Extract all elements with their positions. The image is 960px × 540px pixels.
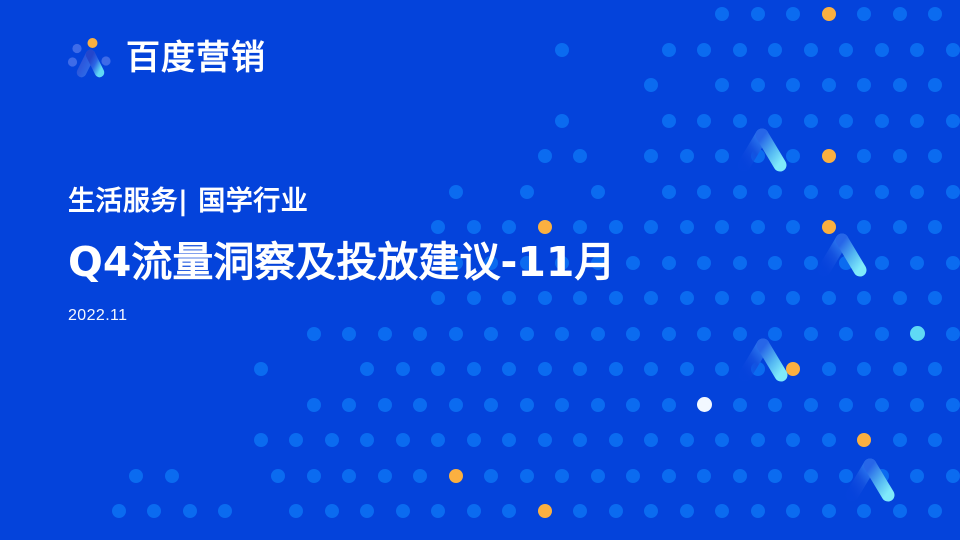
decorative-dot: [839, 469, 853, 483]
decorative-dot: [538, 433, 552, 447]
decorative-accent-dot: [822, 7, 836, 21]
decorative-accent-dot: [449, 469, 463, 483]
decorative-dot: [360, 362, 374, 376]
decorative-dot: [449, 398, 463, 412]
decorative-dot: [715, 362, 729, 376]
decorative-dot: [946, 185, 960, 199]
decorative-dot: [484, 327, 498, 341]
decorative-dot: [910, 185, 924, 199]
decorative-dot: [822, 362, 836, 376]
decorative-dot: [538, 149, 552, 163]
decorative-dot: [875, 114, 889, 128]
decorative-dot: [893, 220, 907, 234]
decorative-dot: [768, 327, 782, 341]
decorative-dot: [555, 469, 569, 483]
decorative-dot: [839, 327, 853, 341]
decorative-dot: [413, 398, 427, 412]
decorative-dot: [396, 433, 410, 447]
decorative-chevron-icon: [837, 445, 903, 511]
decorative-dot: [751, 433, 765, 447]
decorative-dot: [857, 149, 871, 163]
decorative-dot: [573, 362, 587, 376]
decorative-dot: [946, 256, 960, 270]
decorative-dot: [520, 469, 534, 483]
decorative-dot: [573, 433, 587, 447]
decorative-dot: [325, 504, 339, 518]
decorative-dot: [413, 469, 427, 483]
decorative-dot: [946, 43, 960, 57]
decorative-dot: [147, 504, 161, 518]
decorative-dot: [839, 398, 853, 412]
decorative-dot: [733, 327, 747, 341]
decorative-dot: [804, 398, 818, 412]
decorative-dot: [715, 149, 729, 163]
decorative-dot: [325, 433, 339, 447]
decorative-dot: [804, 43, 818, 57]
decorative-dot: [733, 469, 747, 483]
decorative-dot: [715, 433, 729, 447]
decorative-dot: [768, 185, 782, 199]
decorative-dot: [946, 114, 960, 128]
decorative-dot: [751, 78, 765, 92]
decorative-dot: [928, 362, 942, 376]
decorative-dot: [218, 504, 232, 518]
decorative-accent-dot: [822, 149, 836, 163]
decorative-dot: [609, 433, 623, 447]
decorative-dot: [893, 291, 907, 305]
decorative-dot: [786, 291, 800, 305]
decorative-dot: [573, 504, 587, 518]
decorative-dot: [875, 185, 889, 199]
decorative-dot: [431, 433, 445, 447]
decorative-dot: [183, 504, 197, 518]
decorative-dot: [467, 362, 481, 376]
decorative-dot: [768, 398, 782, 412]
decorative-dot: [786, 149, 800, 163]
decorative-dot: [538, 362, 552, 376]
decorative-dot: [307, 398, 321, 412]
decorative-dot: [662, 43, 676, 57]
decorative-dot: [893, 433, 907, 447]
decorative-dot: [662, 114, 676, 128]
decorative-dot: [804, 185, 818, 199]
decorative-dot: [626, 327, 640, 341]
decorative-dot: [431, 504, 445, 518]
decorative-dot: [644, 362, 658, 376]
decorative-dot: [129, 469, 143, 483]
slide-date: 2022.11: [68, 308, 768, 324]
decorative-dot: [857, 362, 871, 376]
decorative-dot: [662, 327, 676, 341]
decorative-dot: [715, 504, 729, 518]
decorative-dot: [893, 362, 907, 376]
decorative-dot: [946, 398, 960, 412]
decorative-dot: [360, 504, 374, 518]
decorative-dot: [839, 185, 853, 199]
decorative-dot: [786, 220, 800, 234]
title-slide: 百度营销 生活服务| 国学行业 Q4流量洞察及投放建议-11月 2022.11: [0, 0, 960, 540]
decorative-dot: [360, 433, 374, 447]
decorative-dot: [378, 327, 392, 341]
decorative-dot: [928, 149, 942, 163]
decorative-dot: [271, 469, 285, 483]
decorative-dot: [467, 504, 481, 518]
decorative-dot: [839, 114, 853, 128]
decorative-dot: [893, 7, 907, 21]
decorative-dot: [751, 362, 765, 376]
decorative-dot: [289, 433, 303, 447]
decorative-dot: [928, 433, 942, 447]
decorative-dot: [112, 504, 126, 518]
decorative-dot: [680, 362, 694, 376]
decorative-dot: [857, 291, 871, 305]
decorative-dot: [307, 469, 321, 483]
decorative-dot: [165, 469, 179, 483]
decorative-dot: [555, 327, 569, 341]
decorative-dot: [893, 504, 907, 518]
decorative-dot: [857, 78, 871, 92]
decorative-dot: [875, 327, 889, 341]
decorative-dot: [555, 114, 569, 128]
decorative-accent-dot: [538, 504, 552, 518]
decorative-dot: [609, 362, 623, 376]
decorative-dot: [804, 327, 818, 341]
decorative-dot: [697, 469, 711, 483]
decorative-dot: [502, 433, 516, 447]
logo-wordmark: 百度营销: [126, 41, 266, 75]
decorative-dot: [573, 149, 587, 163]
decorative-dot: [893, 78, 907, 92]
decorative-dot: [307, 327, 321, 341]
decorative-dot: [591, 327, 605, 341]
decorative-dot: [733, 114, 747, 128]
decorative-dot: [768, 114, 782, 128]
decorative-dot: [662, 469, 676, 483]
decorative-dot: [502, 362, 516, 376]
decorative-dot: [396, 362, 410, 376]
decorative-dot: [928, 78, 942, 92]
decorative-dot: [484, 398, 498, 412]
decorative-dot: [378, 469, 392, 483]
headline-block: 生活服务| 国学行业 Q4流量洞察及投放建议-11月 2022.11: [68, 186, 768, 324]
page-title: Q4流量洞察及投放建议-11月: [68, 239, 768, 286]
decorative-dot: [626, 469, 640, 483]
decorative-dot: [555, 43, 569, 57]
decorative-dot: [254, 362, 268, 376]
baidu-marketing-a-mark-icon: [66, 33, 116, 83]
decorative-dot: [857, 504, 871, 518]
decorative-dot: [484, 469, 498, 483]
decorative-dot: [822, 433, 836, 447]
decorative-dot: [910, 256, 924, 270]
decorative-dot: [839, 43, 853, 57]
decorative-dot: [751, 504, 765, 518]
decorative-dot: [449, 327, 463, 341]
decorative-dot: [626, 398, 640, 412]
decorative-dot: [715, 7, 729, 21]
decorative-dot: [804, 469, 818, 483]
decorative-dot: [786, 78, 800, 92]
decorative-dot: [946, 469, 960, 483]
decorative-dot: [680, 149, 694, 163]
decorative-dot: [697, 327, 711, 341]
decorative-dot: [875, 43, 889, 57]
decorative-accent-dot: [786, 362, 800, 376]
decorative-dot: [928, 220, 942, 234]
decorative-dot: [520, 327, 534, 341]
decorative-dot: [644, 149, 658, 163]
decorative-accent-dot: [910, 326, 925, 341]
decorative-dot: [928, 291, 942, 305]
decorative-dot: [467, 433, 481, 447]
decorative-dot: [751, 149, 765, 163]
decorative-dot: [644, 78, 658, 92]
decorative-dot: [893, 149, 907, 163]
decorative-dot: [431, 362, 445, 376]
decorative-dot: [609, 504, 623, 518]
decorative-dot: [697, 43, 711, 57]
decorative-dot: [680, 433, 694, 447]
decorative-dot: [804, 114, 818, 128]
decorative-dot: [875, 256, 889, 270]
decorative-dot: [644, 433, 658, 447]
decorative-chevron-icon: [729, 115, 795, 181]
decorative-dot: [378, 398, 392, 412]
decorative-dot: [342, 469, 356, 483]
decorative-dot: [928, 504, 942, 518]
brand-logo: 百度营销: [66, 33, 266, 83]
slide-subtitle: 生活服务| 国学行业: [68, 186, 768, 217]
decorative-dot: [910, 469, 924, 483]
decorative-dot: [502, 504, 516, 518]
decorative-dot: [910, 398, 924, 412]
decorative-accent-dot: [857, 433, 871, 447]
decorative-dot: [591, 469, 605, 483]
decorative-accent-dot: [697, 397, 712, 412]
decorative-dot: [555, 398, 569, 412]
decorative-accent-dot: [822, 220, 836, 234]
decorative-dot: [786, 504, 800, 518]
decorative-dot: [857, 220, 871, 234]
decorative-dot: [786, 433, 800, 447]
decorative-dot: [342, 327, 356, 341]
decorative-dot: [396, 504, 410, 518]
decorative-dot: [644, 504, 658, 518]
decorative-dot: [289, 504, 303, 518]
decorative-dot: [910, 114, 924, 128]
decorative-dot: [768, 469, 782, 483]
decorative-dot: [520, 398, 534, 412]
decorative-dot: [733, 43, 747, 57]
decorative-dot: [768, 256, 782, 270]
decorative-dot: [839, 256, 853, 270]
decorative-dot: [751, 7, 765, 21]
decorative-dot: [715, 78, 729, 92]
decorative-dot: [857, 7, 871, 21]
decorative-dot: [786, 7, 800, 21]
decorative-dot: [822, 504, 836, 518]
decorative-dot: [254, 433, 268, 447]
decorative-dot: [768, 43, 782, 57]
decorative-dot: [680, 504, 694, 518]
decorative-dot: [733, 398, 747, 412]
decorative-dot: [591, 398, 605, 412]
decorative-chevron-icon: [730, 325, 796, 391]
decorative-chevron-icon: [809, 220, 875, 286]
decorative-dot: [413, 327, 427, 341]
decorative-dot: [342, 398, 356, 412]
decorative-dot: [875, 469, 889, 483]
decorative-dot: [822, 291, 836, 305]
decorative-dot: [928, 7, 942, 21]
decorative-dot: [946, 327, 960, 341]
decorative-dot: [662, 398, 676, 412]
decorative-dot: [804, 256, 818, 270]
decorative-dot: [822, 78, 836, 92]
decorative-dot: [697, 114, 711, 128]
decorative-dot: [910, 43, 924, 57]
decorative-dot: [875, 398, 889, 412]
